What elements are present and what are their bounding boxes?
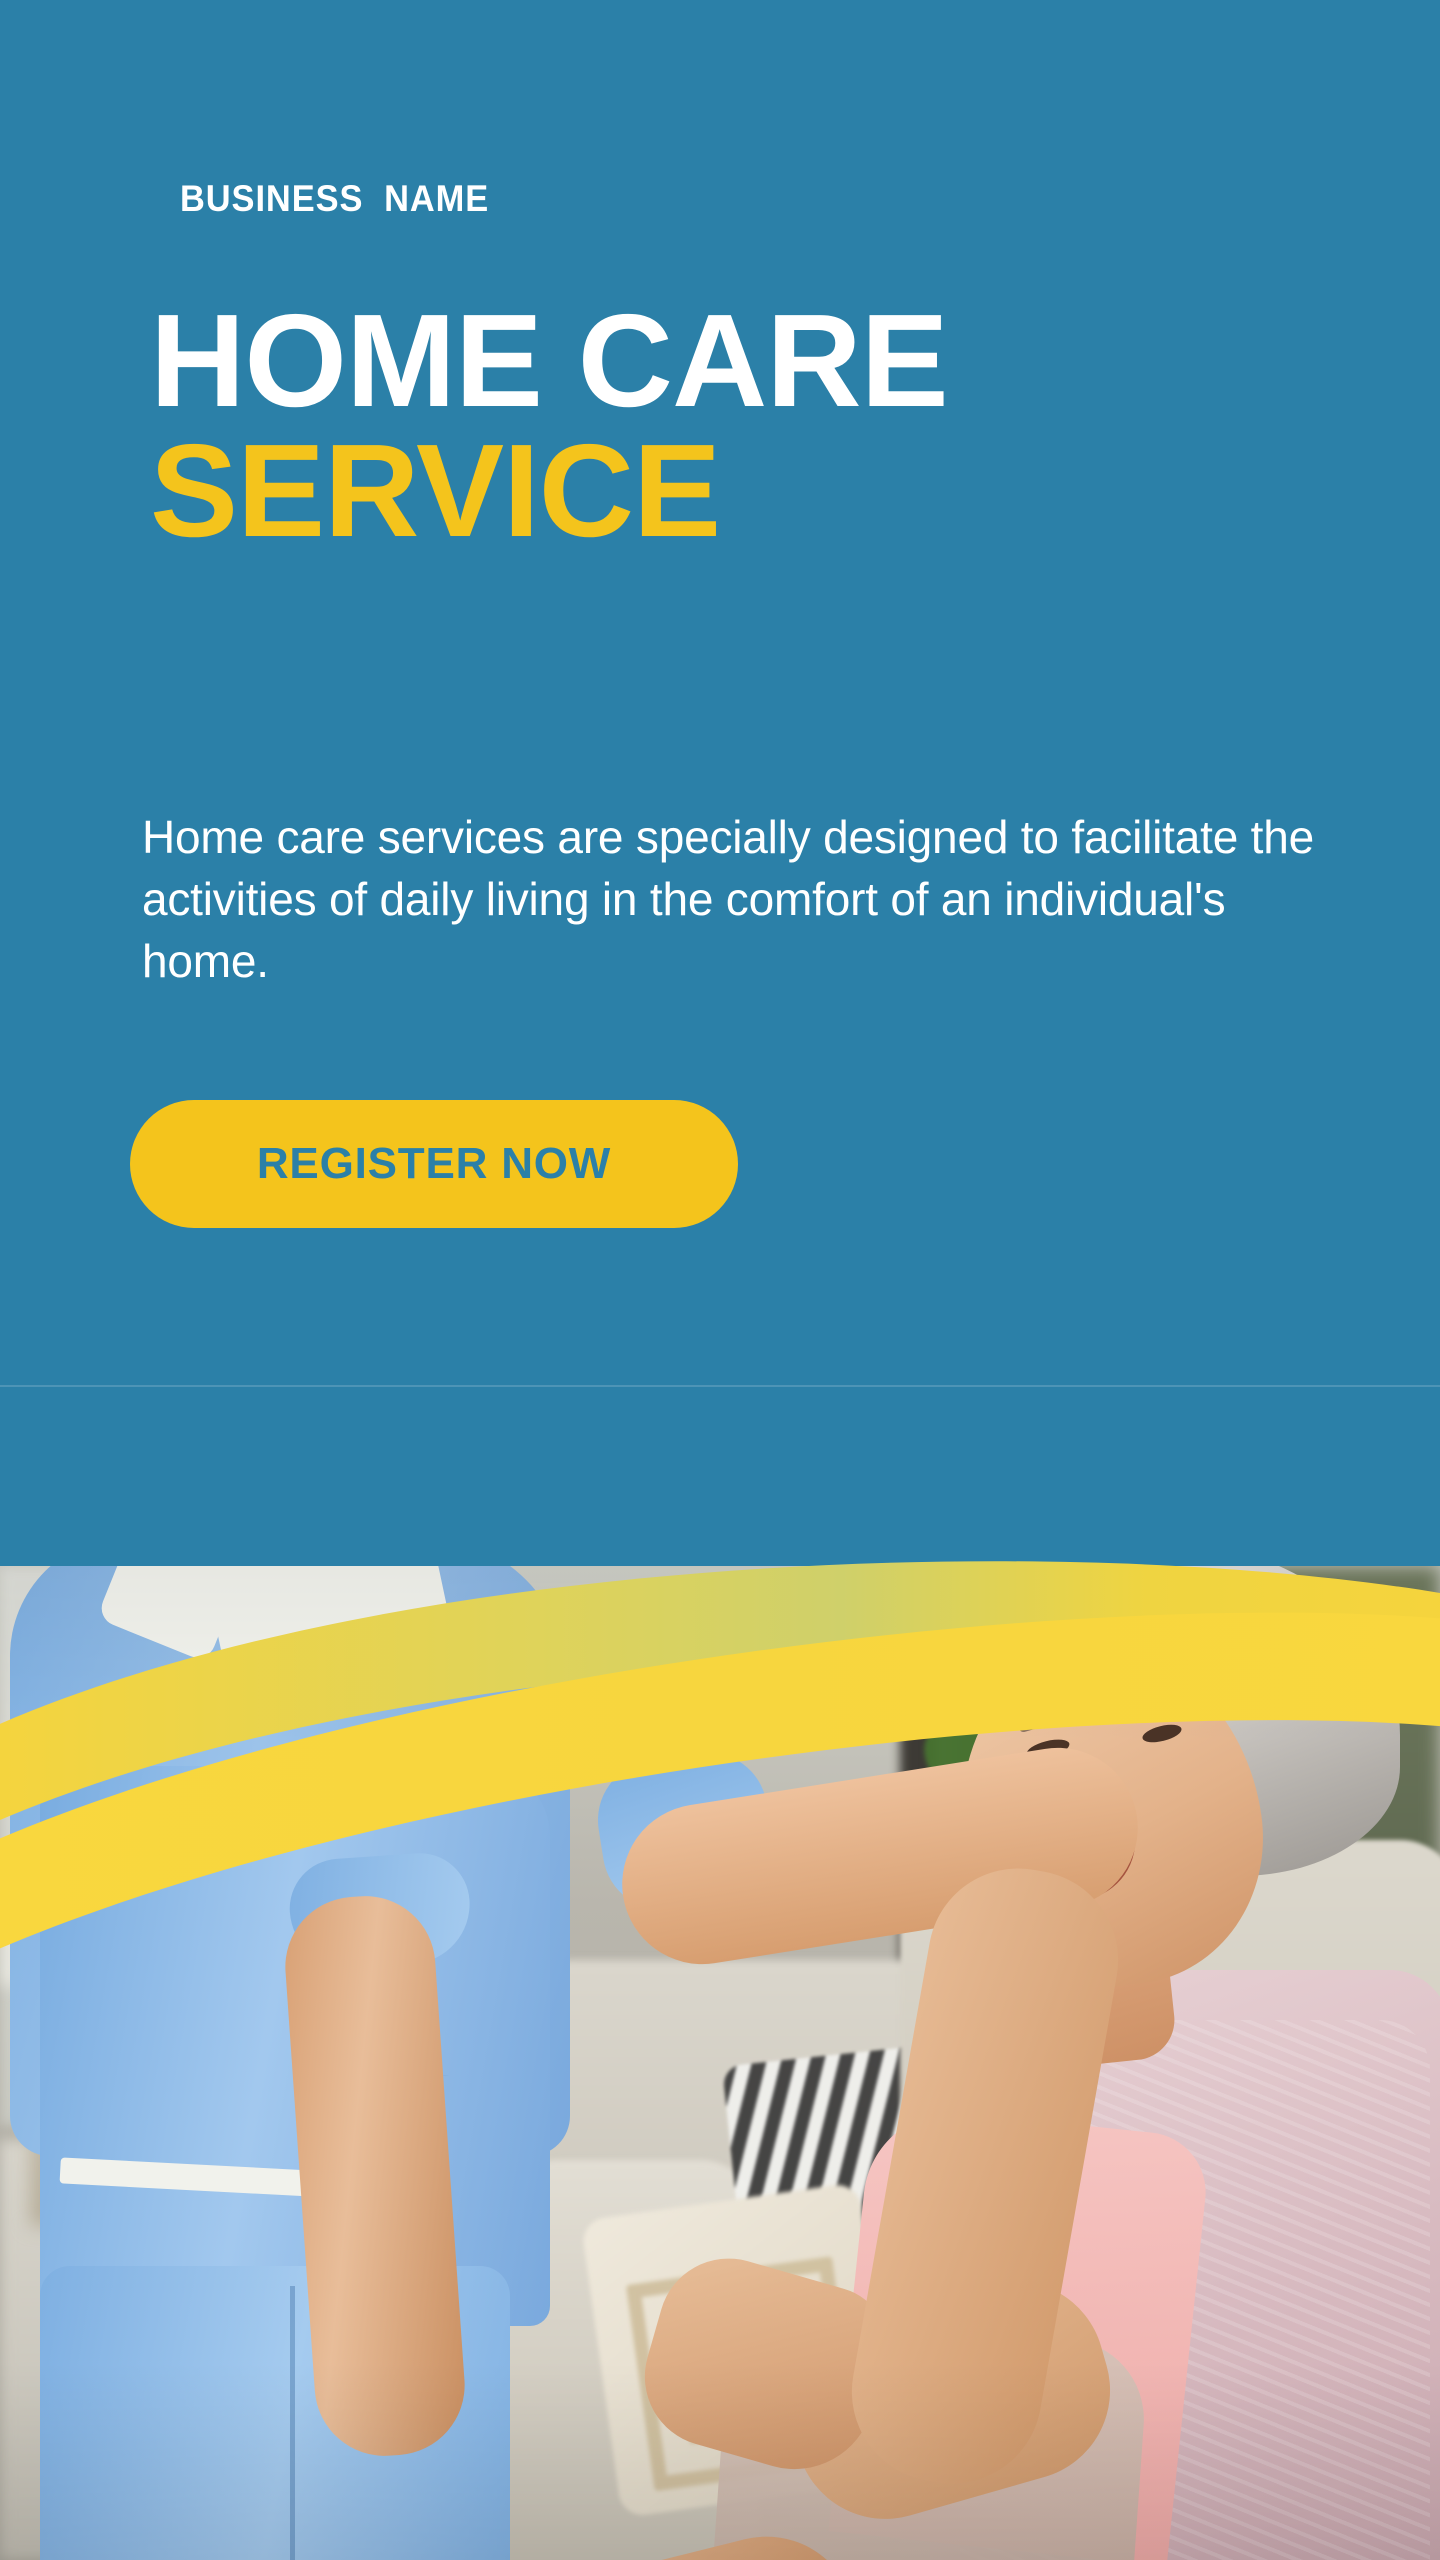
- headline-block: HOME CARE SERVICE: [150, 302, 1350, 550]
- register-now-button[interactable]: REGISTER NOW: [130, 1100, 738, 1228]
- hero-content: BUSINESS NAME HOME CARE SERVICE Home car…: [0, 0, 1440, 1385]
- section-divider: [0, 1385, 1440, 1387]
- nurse-trouser-seam: [290, 2286, 295, 2560]
- description-paragraph: Home care services are specially designe…: [142, 806, 1322, 992]
- headline-primary: HOME CARE: [150, 302, 1350, 420]
- business-name-label: BUSINESS NAME: [180, 178, 489, 220]
- hero-photo: [0, 1386, 1440, 2560]
- poster-canvas: BUSINESS NAME HOME CARE SERVICE Home car…: [0, 0, 1440, 2560]
- headline-accent: SERVICE: [150, 432, 1350, 550]
- photo-scene: [0, 1566, 1440, 2560]
